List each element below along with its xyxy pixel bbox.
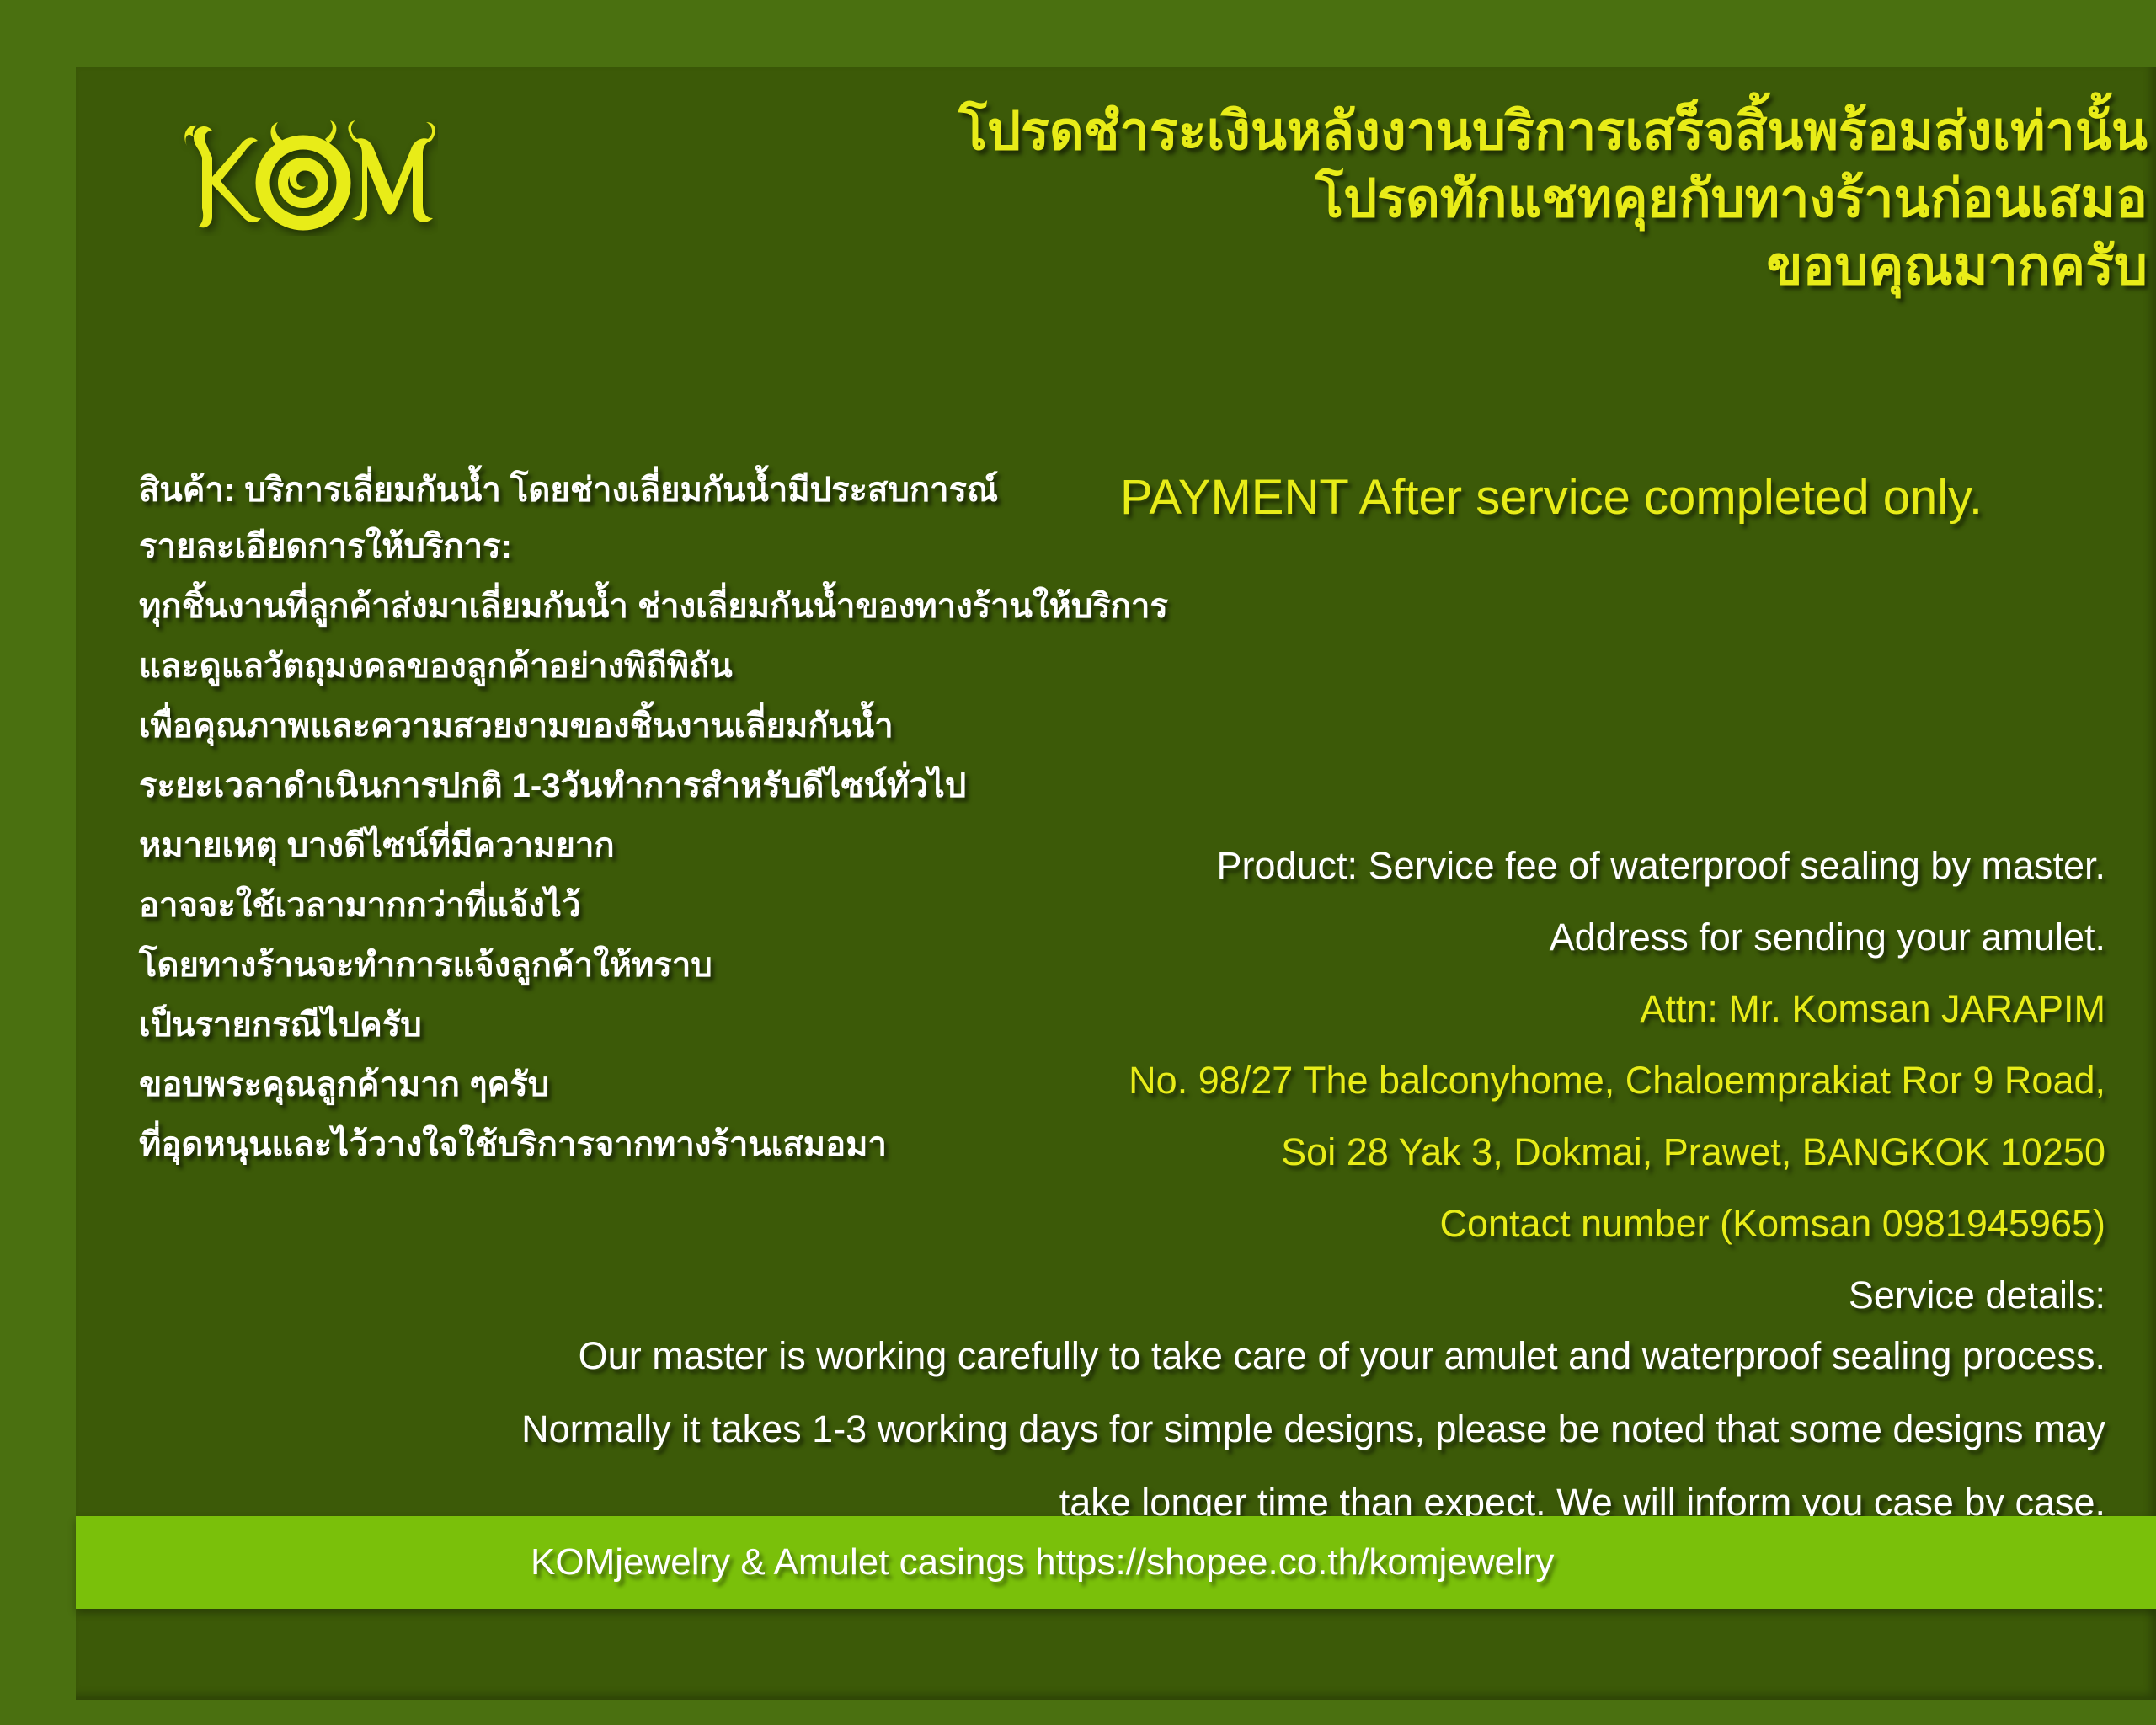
english-address-line-2: Soi 28 Yak 3, Dokmai, Prawet, BANGKOK 10… bbox=[926, 1116, 2105, 1188]
english-contact-number: Contact number (Komsan 0981945965) bbox=[926, 1188, 2105, 1259]
thai-line-6: ระยะเวลาดำเนินการปกติ 1-3วันทำการสำหรับด… bbox=[139, 756, 1133, 816]
promotional-poster: โปรดชำระเงินหลังงานบริการเสร็จสิ้นพร้อมส… bbox=[0, 0, 2156, 1725]
thai-line-4: และดูแลวัตถุมงคลของลูกค้าอย่างพิถีพิถัน bbox=[139, 637, 1133, 697]
english-product-line: Product: Service fee of waterproof seali… bbox=[926, 830, 2105, 901]
thai-line-5: เพื่อคุณภาพและความสวยงามของชิ้นงานเลี่ยม… bbox=[139, 697, 1133, 756]
footer-shop-link[interactable]: KOMjewelry & Amulet casings https://shop… bbox=[531, 1541, 1554, 1583]
header-line-1: โปรดชำระเงินหลังงานบริการเสร็จสิ้นพร้อมส… bbox=[716, 98, 2148, 165]
header-line-2: โปรดทักแชทคุยกับทางร้านก่อนเสมอ bbox=[716, 165, 2148, 232]
header-headline: โปรดชำระเงินหลังงานบริการเสร็จสิ้นพร้อมส… bbox=[716, 98, 2148, 300]
details-line-2: Normally it takes 1-3 working days for s… bbox=[101, 1392, 2105, 1466]
details-line-1: Our master is working carefully to take … bbox=[101, 1319, 2105, 1392]
english-service-details: Our master is working carefully to take … bbox=[101, 1319, 2105, 1539]
header-line-3: ขอบคุณมากครับ bbox=[716, 232, 2148, 300]
payment-headline: PAYMENT After service completed only. bbox=[1120, 468, 1983, 527]
english-attn-line: Attn: Mr. Komsan JARAPIM bbox=[926, 973, 2105, 1044]
footer-bar: KOMjewelry & Amulet casings https://shop… bbox=[76, 1516, 2156, 1609]
thai-line-1: สินค้า: บริการเลี่ยมกันน้ำ โดยช่างเลี่ยม… bbox=[139, 463, 1133, 517]
poster-inner-panel: โปรดชำระเงินหลังงานบริการเสร็จสิ้นพร้อมส… bbox=[76, 67, 2156, 1700]
kom-logo bbox=[168, 114, 438, 236]
english-address-line-1: No. 98/27 The balconyhome, Chaloemprakia… bbox=[926, 1044, 2105, 1116]
english-address-block: Product: Service fee of waterproof seali… bbox=[926, 830, 2105, 1331]
thai-line-3: ทุกชิ้นงานที่ลูกค้าส่งมาเลี่ยมกันน้ำ ช่า… bbox=[139, 577, 1133, 637]
thai-line-2: รายละเอียดการให้บริการ: bbox=[139, 517, 1133, 577]
english-address-label: Address for sending your amulet. bbox=[926, 901, 2105, 973]
